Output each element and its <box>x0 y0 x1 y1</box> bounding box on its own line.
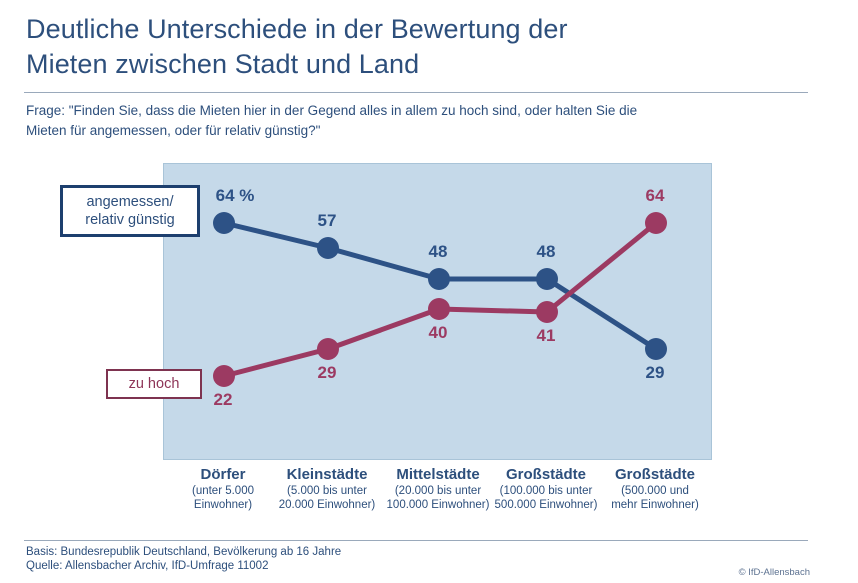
legend-angemessen-guenstig: angemessen/ relativ günstig <box>60 185 200 237</box>
data-label: 48 <box>537 242 556 262</box>
category-subtitle: (5.000 bis unter 20.000 Einwohner) <box>265 484 390 512</box>
data-point[interactable] <box>428 268 450 290</box>
data-label: 29 <box>318 363 337 383</box>
infographic-page: Deutliche Unterschiede in der Bewertung … <box>0 0 858 583</box>
data-label: 64 % <box>216 186 255 206</box>
x-axis-category: Mittelstädte(20.000 bis unter 100.000 Ei… <box>376 466 501 512</box>
data-label: 64 <box>646 186 665 206</box>
page-title: Deutliche Unterschiede in der Bewertung … <box>26 12 746 82</box>
data-point[interactable] <box>536 301 558 323</box>
category-name: Mittelstädte <box>376 466 501 484</box>
category-subtitle: (500.000 und mehr Einwohner) <box>593 484 718 512</box>
data-point[interactable] <box>645 338 667 360</box>
data-point[interactable] <box>645 212 667 234</box>
data-point[interactable] <box>428 298 450 320</box>
data-label: 41 <box>537 326 556 346</box>
data-label: 57 <box>318 211 337 231</box>
title-divider <box>24 92 808 93</box>
category-name: Kleinstädte <box>265 466 390 484</box>
chart-svg <box>164 164 711 459</box>
chart-plot-area <box>163 163 712 460</box>
source-note: Basis: Bundesrepublik Deutschland, Bevöl… <box>26 545 341 573</box>
category-name: Großstädte <box>593 466 718 484</box>
x-axis-category: Großstädte(500.000 und mehr Einwohner) <box>593 466 718 512</box>
category-subtitle: (100.000 bis unter 500.000 Einwohner) <box>484 484 609 512</box>
data-point[interactable] <box>317 338 339 360</box>
data-point[interactable] <box>213 365 235 387</box>
data-label: 22 <box>214 390 233 410</box>
data-point[interactable] <box>317 237 339 259</box>
survey-question: Frage: "Finden Sie, dass die Mieten hier… <box>26 101 816 141</box>
category-subtitle: (20.000 bis unter 100.000 Einwohner) <box>376 484 501 512</box>
legend-zu-hoch: zu hoch <box>106 369 202 399</box>
data-label: 29 <box>646 363 665 383</box>
footer-divider <box>24 540 808 541</box>
x-axis-category: Kleinstädte(5.000 bis unter 20.000 Einwo… <box>265 466 390 512</box>
category-name: Großstädte <box>484 466 609 484</box>
data-point[interactable] <box>213 212 235 234</box>
data-label: 48 <box>429 242 448 262</box>
data-point[interactable] <box>536 268 558 290</box>
copyright-note: © IfD-Allensbach <box>739 567 810 578</box>
x-axis-labels: Dörfer(unter 5.000 Einwohner)Kleinstädte… <box>163 466 712 528</box>
data-label: 40 <box>429 323 448 343</box>
x-axis-category: Großstädte(100.000 bis unter 500.000 Ein… <box>484 466 609 512</box>
